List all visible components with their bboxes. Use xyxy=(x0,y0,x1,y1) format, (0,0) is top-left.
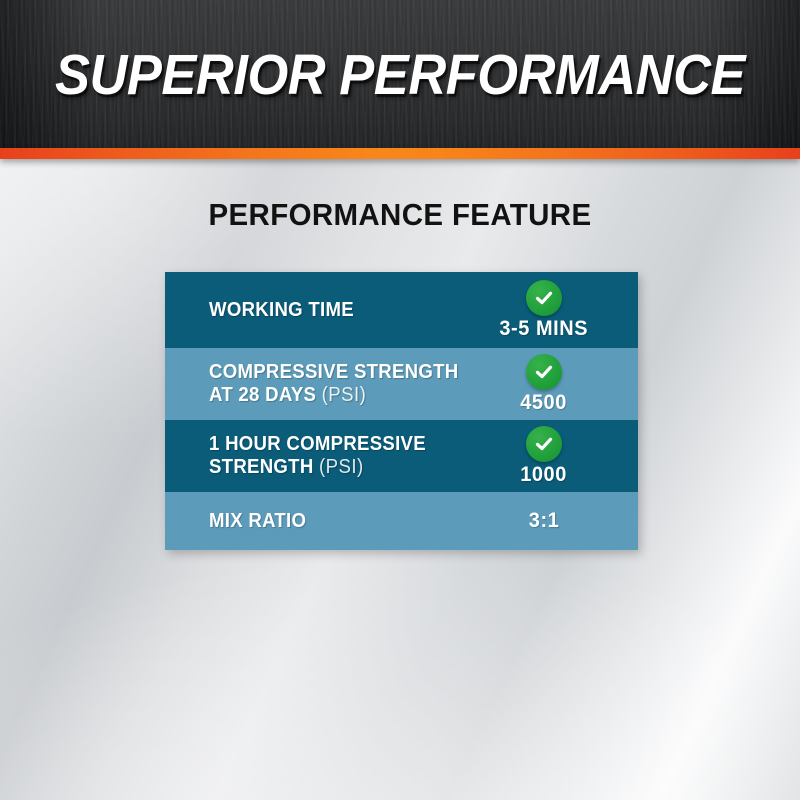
feature-unit: (PSI) xyxy=(319,456,364,478)
banner-title: SUPERIOR PERFORMANCE xyxy=(32,44,768,106)
feature-value-cell: 4500 xyxy=(489,348,599,420)
feature-unit: (PSI) xyxy=(322,384,367,406)
table-row: 1 HOUR COMPRESSIVE STRENGTH (PSI) 1000 xyxy=(165,420,638,492)
feature-value: 3-5 MINS xyxy=(500,317,589,341)
feature-value-cell: 1000 xyxy=(489,420,599,492)
feature-value-cell: 3-5 MINS xyxy=(489,272,599,348)
check-circle-icon xyxy=(526,280,562,316)
table-row: MIX RATIO 3:1 xyxy=(165,492,638,550)
check-circle-icon xyxy=(526,426,562,462)
section-heading: PERFORMANCE FEATURE xyxy=(20,197,780,233)
feature-value: 4500 xyxy=(521,391,568,415)
table-row: COMPRESSIVE STRENGTH AT 28 DAYS (PSI) 45… xyxy=(165,348,638,420)
feature-value: 3:1 xyxy=(529,509,560,533)
header-banner: SUPERIOR PERFORMANCE xyxy=(0,0,800,148)
orange-accent-divider xyxy=(0,148,800,159)
performance-feature-table: WORKING TIME 3-5 MINS COMPRESSIVE STRENG… xyxy=(165,272,638,550)
table-row: WORKING TIME 3-5 MINS xyxy=(165,272,638,348)
check-circle-icon xyxy=(526,354,562,390)
feature-value-cell: 3:1 xyxy=(489,492,599,550)
feature-value: 1000 xyxy=(521,463,568,487)
